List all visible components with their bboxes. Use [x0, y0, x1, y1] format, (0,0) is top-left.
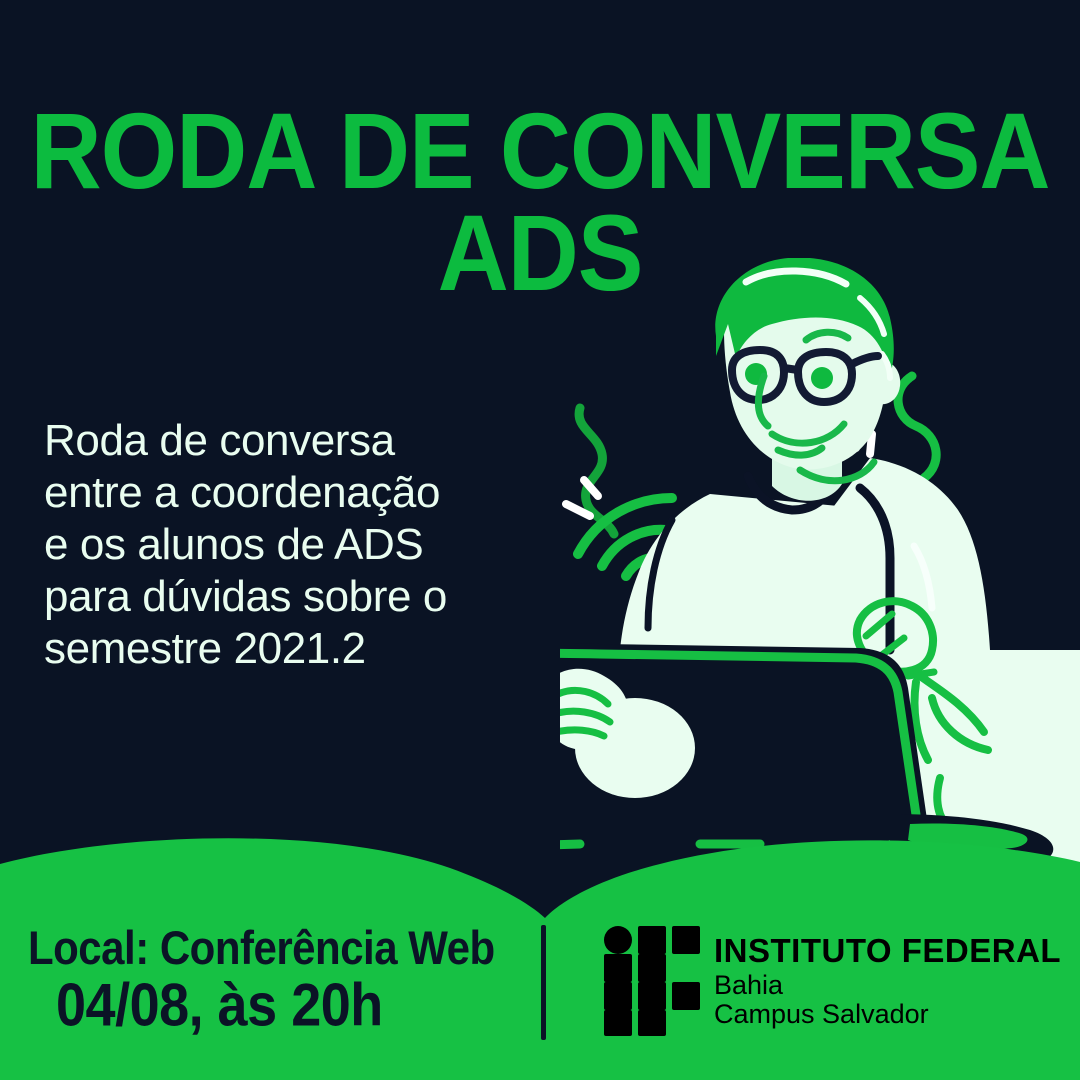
if-logo-campus: Campus Salvador — [714, 1001, 1061, 1028]
title-line-2: ADS — [0, 202, 1080, 305]
description-line-2: entre a coordenação — [44, 467, 564, 519]
footer-location: Local: Conferência Web — [28, 924, 495, 973]
description-line-1: Roda de conversa — [44, 415, 564, 467]
footer-event-info: Local: Conferência Web 04/08, às 20h — [28, 929, 495, 1038]
if-logo-text: INSTITUTO FEDERAL Bahia Campus Salvador — [714, 934, 1061, 1028]
description-line-3: e os alunos de ADS — [44, 519, 564, 571]
description-line-5: semestre 2021.2 — [44, 623, 564, 675]
decor-squiggle-right — [898, 376, 936, 478]
title-line-1: RODA DE CONVERSA — [0, 100, 1080, 203]
instituto-federal-logo: INSTITUTO FEDERAL Bahia Campus Salvador — [604, 926, 1061, 1036]
if-logo-title: INSTITUTO FEDERAL — [714, 934, 1061, 967]
description-line-4: para dúvidas sobre o — [44, 571, 564, 623]
illustration-person-with-laptop — [560, 258, 1080, 878]
eye-right — [811, 367, 833, 389]
if-logo-mark-icon — [604, 926, 700, 1036]
poster-title: RODA DE CONVERSA ADS — [0, 100, 1080, 287]
footer-divider — [541, 925, 546, 1040]
if-logo-state: Bahia — [714, 972, 1061, 999]
footer-date-time: 04/08, às 20h — [56, 975, 495, 1038]
poster-description: Roda de conversa entre a coordenação e o… — [44, 415, 564, 675]
poster-canvas: RODA DE CONVERSA ADS Roda de conversa en… — [0, 0, 1080, 1080]
